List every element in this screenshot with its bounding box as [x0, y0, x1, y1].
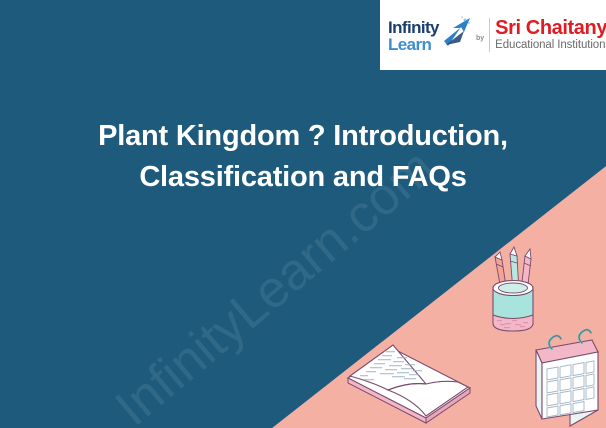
logo-by-label: by [476, 35, 484, 42]
infinity-learn-line2: Learn [388, 36, 431, 53]
open-book-icon [348, 345, 470, 423]
page-title: Plant Kingdom ? Introduction, Classifica… [0, 116, 606, 198]
desk-calendar-icon [536, 330, 598, 426]
sri-chaitanya-line2: Educational Institutions [495, 39, 606, 53]
logo-divider [489, 18, 490, 52]
desk-illustration [330, 230, 606, 428]
page-title-line-1: Plant Kingdom ? Introduction, [26, 116, 580, 157]
sri-chaitanya-line1: Sri Chaitanya [495, 18, 606, 39]
infinity-learn-logo[interactable]: Infinity Learn [388, 11, 474, 59]
infinity-learn-line1: Infinity [388, 19, 439, 36]
logo-plate[interactable]: Infinity Learn by Sri Chaitanya Educatio… [380, 0, 606, 70]
course-banner: InfinityLearn.com Infinity Learn by Sri … [0, 0, 606, 428]
pencil-cup-icon [493, 247, 533, 331]
page-title-line-2: Classification and FAQs [26, 157, 580, 198]
sri-chaitanya-logo[interactable]: Sri Chaitanya Educational Institutions [495, 18, 606, 53]
arrow-swoosh-icon [440, 15, 474, 55]
